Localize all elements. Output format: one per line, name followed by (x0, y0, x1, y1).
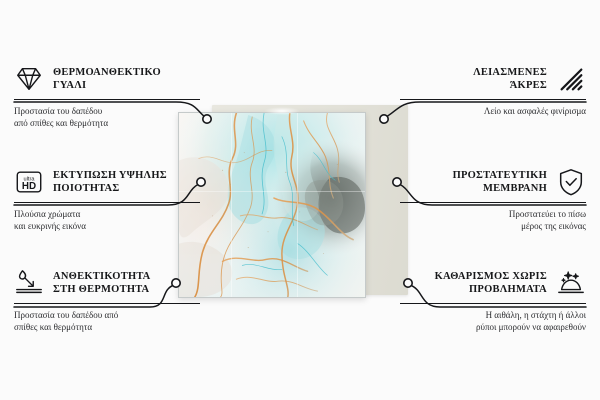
feature-description: Πλούσια χρώματα (14, 208, 200, 220)
diamond-icon (14, 64, 44, 94)
feature-title: ΑΝΘΕΚΤΙΚΟΤΗΤΑ (53, 270, 150, 283)
feature-easy-cleaning: ΚΑΘΑΡΙΣΜΟΣ ΧΩΡΙΣ ΠΡΟΒΛΗΜΑΤΑ Η αιθάλη, η … (400, 266, 586, 333)
feature-title: ΠΡΟΒΛΗΜΑΤΑ (435, 283, 547, 296)
reflection-line (231, 113, 232, 297)
ultra-hd-icon: ultra HD (14, 167, 44, 197)
feature-description: Προστατεύει το πίσω (400, 208, 586, 220)
polished-edges-icon (556, 64, 586, 94)
feature-protective-membrane: ΠΡΟΣΤΑΤΕΥΤΙΚΗ ΜΕΜΒΡΑΝΗ Προστατεύει το πί… (400, 165, 586, 232)
product-mockup (178, 106, 410, 298)
feature-description: μέρος της εικόνας (400, 220, 586, 232)
feature-description: από σπίθες και θερμότητα (14, 117, 200, 129)
feature-description: ρύποι μπορούν να αφαιρεθούν (400, 321, 586, 333)
hd-label: HD (22, 181, 36, 192)
feature-description: και ευκρινής εικόνα (14, 220, 200, 232)
feature-title: ΆΚΡΕΣ (473, 79, 547, 92)
feature-high-quality-print: ultra HD ΕΚΤΥΠΩΣΗ ΥΨΗΛΗΣ ΠΟΙΟΤΗΤΑΣ Πλούσ… (14, 165, 200, 232)
feature-polished-edges: ΛΕΙΑΣΜΕΝΕΣ ΆΚΡΕΣ Λείο και ασφαλές φινίρι… (400, 62, 586, 117)
feature-description: Η αιθάλη, η στάχτη ή άλλοι (400, 309, 586, 321)
divider (14, 303, 200, 304)
feature-heat-resistant-glass: ΘΕΡΜΟΑΝΘΕΚΤΙΚΟ ΓΥΑΛΙ Προστασία του δαπέδ… (14, 62, 200, 129)
feature-description: σπίθες και θερμότητα (14, 321, 200, 333)
shield-check-icon (556, 167, 586, 197)
feature-title: ΓΥΑΛΙ (53, 79, 161, 92)
feature-description: Προστασία του δαπέδου (14, 105, 200, 117)
reflection-line (179, 191, 365, 192)
feature-title: ΛΕΙΑΣΜΕΝΕΣ (473, 66, 547, 79)
easy-clean-icon (556, 268, 586, 298)
feature-description: Προστασία του δαπέδου από (14, 309, 200, 321)
marble-artwork (179, 113, 365, 297)
feature-title: ΚΑΘΑΡΙΣΜΟΣ ΧΩΡΙΣ (435, 270, 547, 283)
divider (14, 202, 200, 203)
feature-description: Λείο και ασφαλές φινίρισμα (400, 105, 586, 117)
feature-title: ΘΕΡΜΟΑΝΘΕΚΤΙΚΟ (53, 66, 161, 79)
glass-glare (264, 107, 300, 115)
glass-panel (178, 112, 366, 298)
divider (400, 303, 586, 304)
feature-title: ΠΡΟΣΤΑΤΕΥΤΙΚΗ (453, 169, 547, 182)
feature-title: ΠΟΙΟΤΗΤΑΣ (53, 182, 167, 195)
divider (14, 99, 200, 100)
feature-title: ΕΚΤΥΠΩΣΗ ΥΨΗΛΗΣ (53, 169, 167, 182)
divider (400, 99, 586, 100)
heat-resistance-icon (14, 268, 44, 298)
feature-title: ΜΕΜΒΡΑΝΗ (453, 182, 547, 195)
divider (400, 202, 586, 203)
feature-heat-resistance: ΑΝΘΕΚΤΙΚΟΤΗΤΑ ΣΤΗ ΘΕΡΜΟΤΗΤΑ Προστασία το… (14, 266, 200, 333)
feature-title: ΣΤΗ ΘΕΡΜΟΤΗΤΑ (53, 283, 150, 296)
infographic-canvas: ΘΕΡΜΟΑΝΘΕΚΤΙΚΟ ΓΥΑΛΙ Προστασία του δαπέδ… (0, 0, 600, 400)
reflection-line (297, 113, 298, 297)
